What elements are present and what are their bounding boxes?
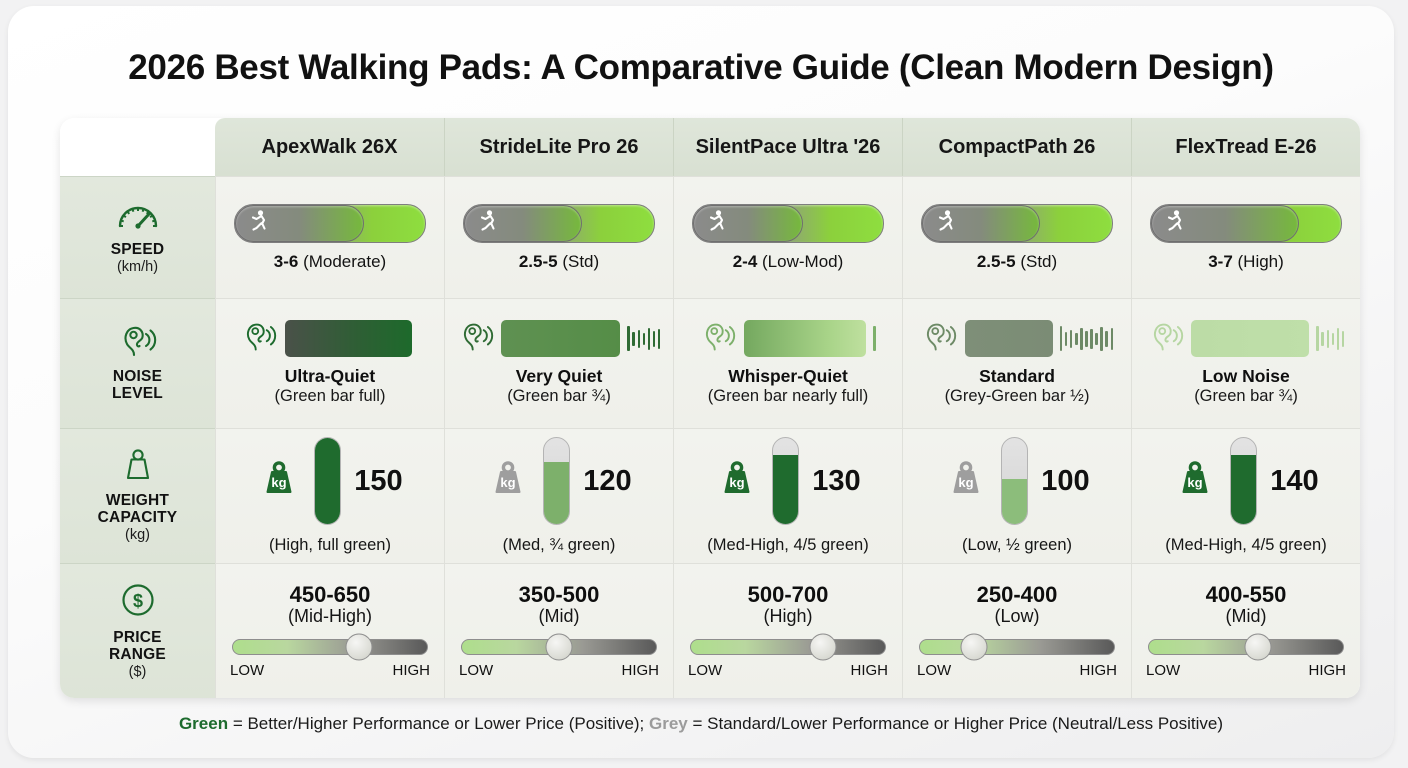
speed-slider[interactable]: [1150, 204, 1342, 243]
price-scale-high: HIGH: [393, 662, 431, 679]
price-qualifier: (Mid): [539, 607, 580, 627]
column-header-4: CompactPath 26: [902, 118, 1131, 176]
legend: Green = Better/Higher Performance or Low…: [8, 714, 1394, 734]
cell-price-1: 450-650 (Mid-High) LOW HIGH: [215, 563, 444, 698]
weight-qualifier: (Med-High, 4/5 green): [707, 536, 868, 555]
price-qualifier: (High): [763, 607, 812, 627]
comparison-table: ApexWalk 26XStrideLite Pro 26SilentPace …: [60, 118, 1360, 698]
price-qualifier: (Mid): [1226, 607, 1267, 627]
speedometer-icon: [117, 199, 159, 236]
cell-noise-5: Low Noise (Green bar ¾): [1131, 298, 1360, 428]
runner-icon: [477, 210, 497, 237]
ear-sound-icon: [241, 321, 278, 357]
legend-grey-text: = Standard/Lower Performance or Higher P…: [688, 714, 1223, 733]
ear-sound-icon: [700, 321, 737, 357]
runner-icon: [935, 210, 955, 237]
cell-speed-1: 3-6 (Moderate): [215, 176, 444, 298]
cell-noise-1: Ultra-Quiet (Green bar full): [215, 298, 444, 428]
price-scale-low: LOW: [230, 662, 264, 679]
cell-price-3: 500-700 (High) LOW HIGH: [673, 563, 902, 698]
comparison-grid: ApexWalk 26XStrideLite Pro 26SilentPace …: [60, 118, 1360, 698]
column-header-label: StrideLite Pro 26: [480, 136, 639, 159]
weight-gauge: [1001, 437, 1028, 525]
dollar-circle-icon: $: [119, 581, 157, 624]
noise-bar: [1191, 320, 1309, 357]
price-slider-knob[interactable]: [1244, 634, 1271, 661]
price-value: 500-700: [748, 583, 829, 608]
table-corner: [60, 118, 215, 176]
price-slider-knob[interactable]: [809, 634, 836, 661]
runner-icon: [248, 210, 268, 237]
weight-kg-icon: kg: [715, 459, 759, 504]
price-scale-high: HIGH: [851, 662, 889, 679]
cell-speed-2: 2.5-5 (Std): [444, 176, 673, 298]
column-header-2: StrideLite Pro 26: [444, 118, 673, 176]
cell-weight-4: kg 100 (Low, ½ green): [902, 428, 1131, 563]
noise-bar: [965, 320, 1053, 357]
ear-sound-icon: [1148, 321, 1185, 357]
row-label-text: SPEED: [111, 242, 165, 259]
weight-kg-icon: kg: [486, 459, 530, 504]
cell-price-2: 350-500 (Mid) LOW HIGH: [444, 563, 673, 698]
svg-text:kg: kg: [959, 475, 974, 490]
price-scale-high: HIGH: [622, 662, 660, 679]
sound-wave-icon: [1316, 322, 1344, 356]
price-slider-knob[interactable]: [961, 634, 988, 661]
cell-weight-5: kg 140 (Med-High, 4/5 green): [1131, 428, 1360, 563]
sound-wave-icon: [873, 322, 876, 356]
noise-qualifier: (Grey-Green bar ½): [945, 387, 1090, 406]
weight-gauge: [543, 437, 570, 525]
price-slider[interactable]: [919, 639, 1115, 655]
runner-icon: [706, 210, 726, 237]
svg-text:$: $: [132, 591, 142, 611]
weight-gauge: [1230, 437, 1257, 525]
noise-qualifier: (Green bar ¾): [1194, 387, 1298, 406]
svg-text:kg: kg: [272, 475, 287, 490]
price-slider-knob[interactable]: [546, 634, 573, 661]
noise-value: Very Quiet: [507, 366, 611, 387]
noise-qualifier: (Green bar ¾): [507, 387, 611, 406]
weight-qualifier: (Med, ¾ green): [503, 536, 616, 555]
weight-qualifier: (High, full green): [269, 536, 391, 555]
row-label-unit: (km/h): [117, 260, 158, 276]
column-header-1: ApexWalk 26X: [215, 118, 444, 176]
row-label-weight: WEIGHTCAPACITY (kg): [60, 428, 215, 563]
row-label-unit: ($): [129, 665, 147, 681]
column-header-label: ApexWalk 26X: [262, 136, 398, 159]
price-slider[interactable]: [690, 639, 886, 655]
weight-gauge: [314, 437, 341, 525]
price-slider[interactable]: [1148, 639, 1344, 655]
cell-noise-2: Very Quiet (Green bar ¾): [444, 298, 673, 428]
page-card: 2026 Best Walking Pads: A Comparative Gu…: [8, 6, 1394, 758]
sound-wave-icon: [627, 322, 660, 356]
weight-value: 120: [583, 465, 631, 498]
noise-value: Low Noise: [1194, 366, 1298, 387]
weight-value: 150: [354, 465, 402, 498]
weight-icon: [118, 448, 158, 487]
price-slider[interactable]: [232, 639, 428, 655]
speed-slider[interactable]: [463, 204, 655, 243]
price-value: 350-500: [519, 583, 600, 608]
page-title: 2026 Best Walking Pads: A Comparative Gu…: [8, 48, 1394, 88]
cell-speed-4: 2.5-5 (Std): [902, 176, 1131, 298]
sound-wave-icon: [1060, 322, 1114, 356]
cell-weight-3: kg 130 (Med-High, 4/5 green): [673, 428, 902, 563]
column-header-5: FlexTread E-26: [1131, 118, 1360, 176]
noise-value: Standard: [945, 366, 1090, 387]
row-label-price: $ PRICERANGE ($): [60, 563, 215, 698]
weight-qualifier: (Med-High, 4/5 green): [1165, 536, 1326, 555]
speed-slider[interactable]: [234, 204, 426, 243]
cell-weight-2: kg 120 (Med, ¾ green): [444, 428, 673, 563]
weight-kg-icon: kg: [257, 459, 301, 504]
speed-value: 3-7 (High): [1208, 252, 1284, 272]
column-header-label: FlexTread E-26: [1175, 136, 1316, 159]
price-scale-low: LOW: [917, 662, 951, 679]
price-value: 450-650: [290, 583, 371, 608]
noise-value: Whisper-Quiet: [708, 366, 868, 387]
price-value: 400-550: [1206, 583, 1287, 608]
cell-weight-1: kg 150 (High, full green): [215, 428, 444, 563]
speed-value: 3-6 (Moderate): [274, 252, 386, 272]
weight-kg-icon: kg: [944, 459, 988, 504]
column-header-label: SilentPace Ultra '26: [696, 136, 881, 159]
ear-sound-icon: [458, 321, 495, 357]
speed-slider[interactable]: [692, 204, 884, 243]
speed-value: 2.5-5 (Std): [519, 252, 599, 272]
price-qualifier: (Low): [994, 607, 1039, 627]
noise-bar: [501, 320, 620, 357]
weight-qualifier: (Low, ½ green): [962, 536, 1072, 555]
column-header-label: CompactPath 26: [939, 136, 1096, 159]
legend-grey-word: Grey: [649, 714, 688, 733]
cell-speed-5: 3-7 (High): [1131, 176, 1360, 298]
price-slider[interactable]: [461, 639, 657, 655]
speed-slider[interactable]: [921, 204, 1113, 243]
row-label-text: WEIGHTCAPACITY: [98, 493, 178, 526]
noise-qualifier: (Green bar nearly full): [708, 387, 868, 406]
row-label-speed: SPEED (km/h): [60, 176, 215, 298]
weight-value: 130: [812, 465, 860, 498]
weight-gauge: [772, 437, 799, 525]
price-scale-low: LOW: [1146, 662, 1180, 679]
price-scale-low: LOW: [688, 662, 722, 679]
noise-value: Ultra-Quiet: [275, 366, 386, 387]
cell-noise-4: Standard (Grey-Green bar ½): [902, 298, 1131, 428]
noise-bar: [744, 320, 866, 357]
row-label-noise: NOISELEVEL: [60, 298, 215, 428]
price-scale-high: HIGH: [1080, 662, 1118, 679]
price-slider-knob[interactable]: [346, 634, 373, 661]
weight-value: 140: [1270, 465, 1318, 498]
cell-price-4: 250-400 (Low) LOW HIGH: [902, 563, 1131, 698]
price-scale-low: LOW: [459, 662, 493, 679]
weight-kg-icon: kg: [1173, 459, 1217, 504]
cell-noise-3: Whisper-Quiet (Green bar nearly full): [673, 298, 902, 428]
weight-value: 100: [1041, 465, 1089, 498]
cell-speed-3: 2-4 (Low-Mod): [673, 176, 902, 298]
legend-green-text: = Better/Higher Performance or Lower Pri…: [228, 714, 649, 733]
speed-value: 2-4 (Low-Mod): [733, 252, 844, 272]
noise-bar: [285, 320, 412, 357]
svg-text:kg: kg: [730, 475, 745, 490]
runner-icon: [1164, 210, 1184, 237]
row-label-unit: (kg): [125, 528, 150, 544]
noise-qualifier: (Green bar full): [275, 387, 386, 406]
price-value: 250-400: [977, 583, 1058, 608]
svg-text:kg: kg: [1188, 475, 1203, 490]
speed-value: 2.5-5 (Std): [977, 252, 1057, 272]
row-label-text: PRICERANGE: [109, 630, 166, 663]
cell-price-5: 400-550 (Mid) LOW HIGH: [1131, 563, 1360, 698]
ear-sound-icon: [118, 324, 158, 363]
legend-green-word: Green: [179, 714, 228, 733]
column-header-3: SilentPace Ultra '26: [673, 118, 902, 176]
price-qualifier: (Mid-High): [288, 607, 372, 627]
svg-text:kg: kg: [501, 475, 516, 490]
ear-sound-icon: [921, 321, 958, 357]
price-scale-high: HIGH: [1309, 662, 1347, 679]
row-label-text: NOISELEVEL: [112, 369, 163, 402]
